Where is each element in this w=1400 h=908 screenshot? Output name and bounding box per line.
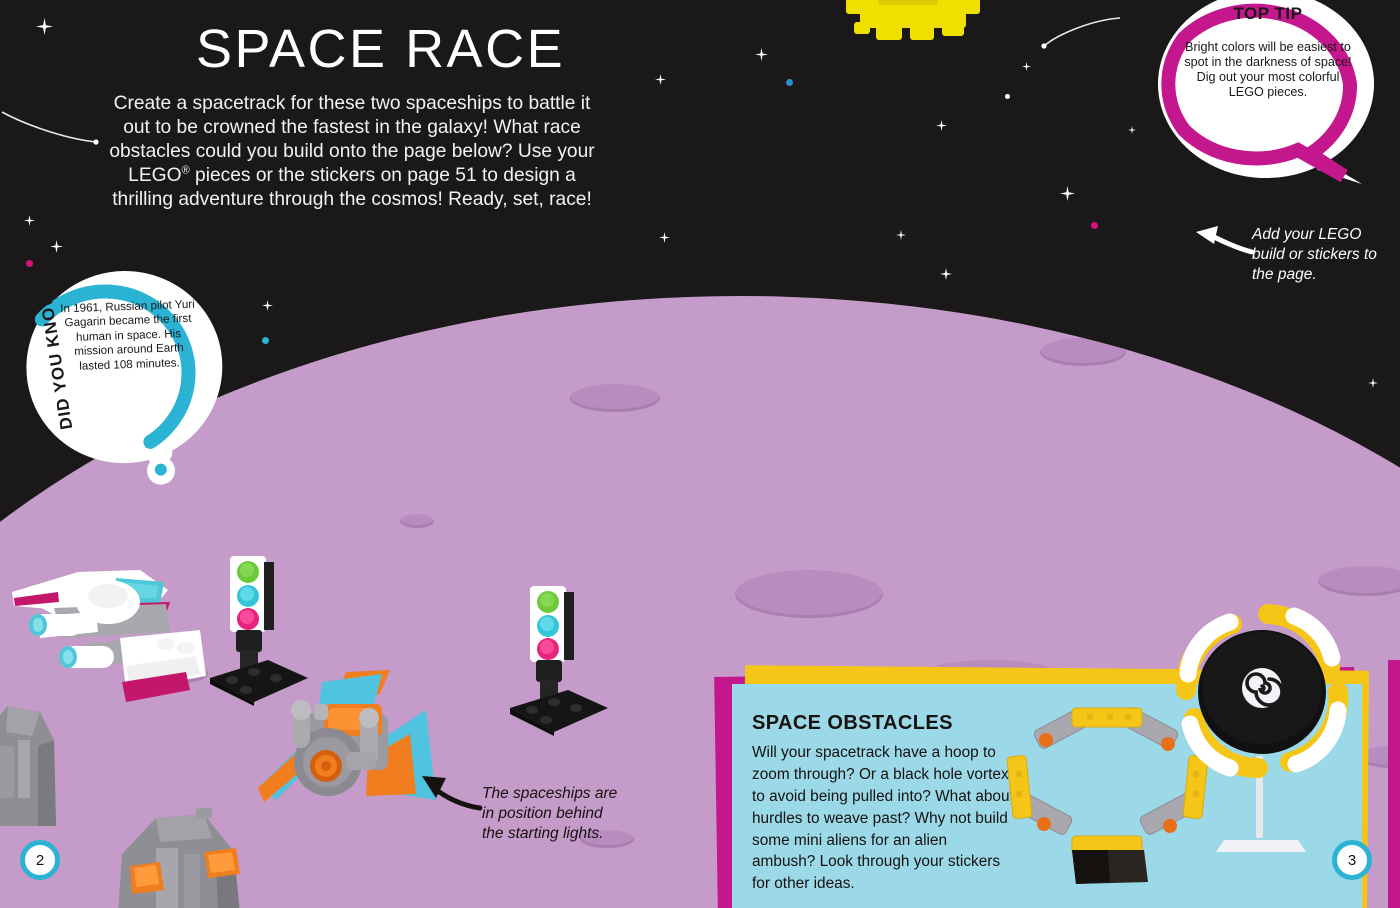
star-icon <box>940 268 952 280</box>
top-tip-bubble: TOP TIP Bright colors will be easiest to… <box>1148 0 1388 198</box>
star-icon <box>50 240 63 253</box>
intro-line: out to be crowned the fastest in the gal… <box>123 117 581 138</box>
white-pink-spaceship-build <box>0 556 210 706</box>
add-lego-note: Add your LEGO build or stickers to the p… <box>1252 225 1382 285</box>
star-icon <box>896 230 906 240</box>
intro-paragraph: Create a spacetrack for these two spaces… <box>100 92 604 212</box>
did-you-know-bubble: DID YOU KNOW In 1961, Russian pilot Yuri… <box>5 246 258 508</box>
intro-line: LEGO® pieces or the stickers on page 51 … <box>128 165 576 186</box>
magenta-star-dot-icon <box>1091 222 1098 229</box>
rock-center-build <box>112 804 252 908</box>
white-star-dot-icon <box>1005 94 1010 99</box>
top-tip-text: Bright colors will be easiest to spot in… <box>1180 40 1356 99</box>
magenta-star-dot-icon <box>26 260 33 267</box>
star-icon <box>24 215 35 226</box>
page-number-right: 3 <box>1332 840 1372 880</box>
intro-line: thrilling adventure through the cosmos! … <box>112 189 592 210</box>
crater <box>1336 388 1394 408</box>
yellow-sun-build <box>818 0 1008 72</box>
add-lego-arrow-icon <box>1192 222 1256 258</box>
star-icon <box>1060 186 1075 201</box>
black-hole-vortex-build <box>1168 596 1358 856</box>
spaceships-note: The spaceships are in position behind th… <box>482 784 622 844</box>
crater <box>735 570 883 618</box>
crater <box>1318 566 1400 596</box>
star-icon <box>655 74 666 85</box>
rock-left-build <box>0 700 84 826</box>
shooting-star-icon <box>1032 16 1142 66</box>
blue-star-dot-icon <box>786 79 793 86</box>
star-icon <box>659 232 670 243</box>
did-you-know-text: In 1961, Russian pilot Yuri Gagarin beca… <box>58 298 198 375</box>
crater <box>1040 338 1126 366</box>
space-obstacles-body: Will your spacetrack have a hoop to zoom… <box>752 742 1014 895</box>
intro-line: obstacles could you build onto the page … <box>109 141 594 162</box>
crater <box>400 514 434 528</box>
page-number-left: 2 <box>20 840 60 880</box>
intro-line: Create a spacetrack for these two spaces… <box>114 93 591 114</box>
cyan-star-dot-icon <box>262 337 269 344</box>
star-icon <box>936 120 947 131</box>
star-icon <box>1128 126 1136 134</box>
star-icon <box>1022 62 1031 71</box>
space-obstacles-title: SPACE OBSTACLES <box>752 712 953 735</box>
spread-page: SPACE RACE Create a spacetrack for these… <box>0 0 1400 908</box>
top-tip-label: TOP TIP <box>1148 4 1388 24</box>
page-spine <box>1388 660 1400 908</box>
star-icon <box>262 300 273 311</box>
star-icon <box>1368 378 1378 388</box>
star-icon <box>36 18 53 35</box>
spaceships-arrow-icon <box>416 772 486 816</box>
page-title: SPACE RACE <box>196 22 565 76</box>
crater <box>570 384 660 412</box>
star-icon <box>755 48 768 61</box>
starting-light-right-build <box>506 586 616 736</box>
